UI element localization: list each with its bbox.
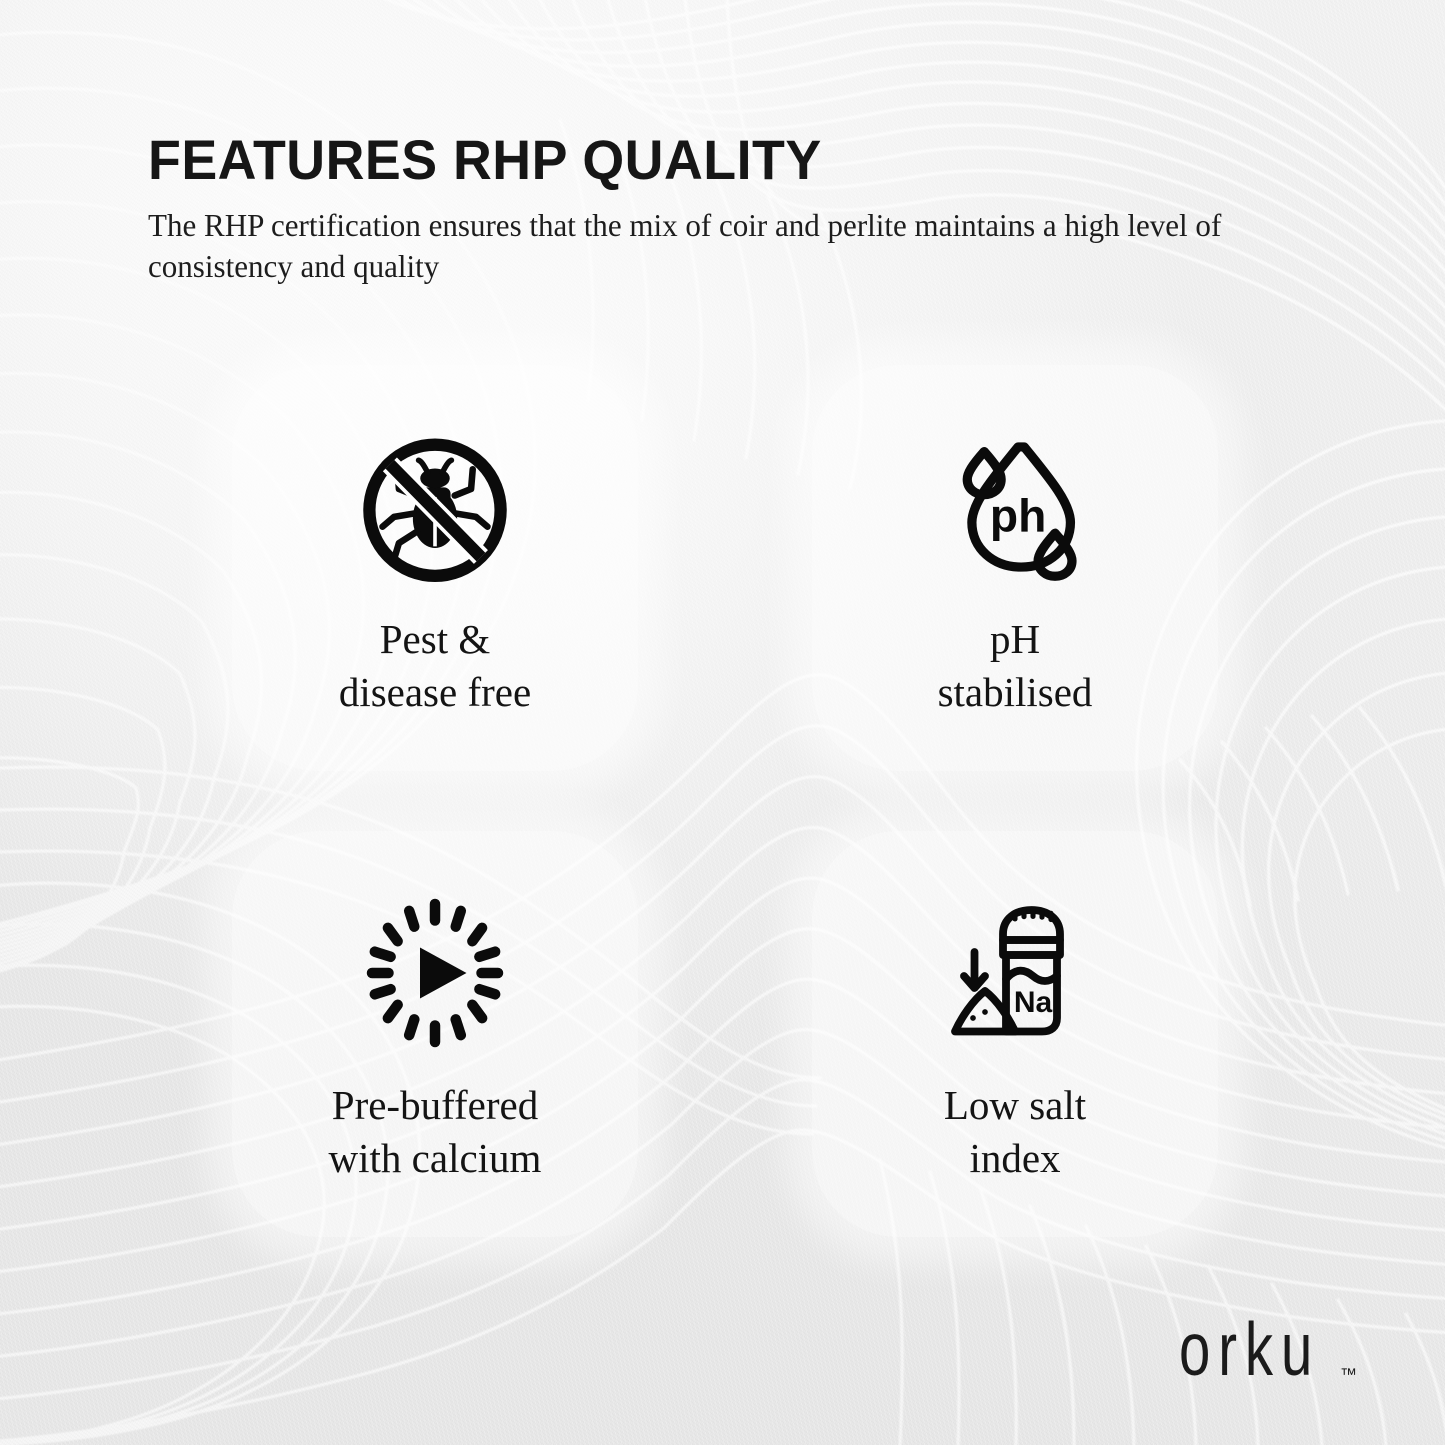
no-pest-icon (353, 427, 517, 587)
ph-droplet-icon-svg: ph (938, 430, 1092, 584)
feature-tile-pre-buffered: Pre-buffered with calcium (232, 831, 638, 1237)
header-block: FEATURES RHP QUALITY The RHP certificati… (148, 132, 1328, 288)
feature-label: Pest & disease free (339, 613, 531, 720)
page-subtitle: The RHP certification ensures that the m… (148, 206, 1281, 288)
feature-infographic-page: FEATURES RHP QUALITY The RHP certificati… (0, 0, 1445, 1445)
feature-tile-ph-stabilised: ph pH stabilised (812, 365, 1218, 771)
pre-buffered-play-icon (360, 893, 510, 1053)
ph-droplet-icon: ph (938, 427, 1092, 587)
page-title: FEATURES RHP QUALITY (148, 132, 1281, 188)
na-icon-text: Na (1014, 986, 1053, 1019)
brand-logo-wordmark: orku (1179, 1311, 1320, 1387)
feature-tile-pest-disease-free: Pest & disease free (232, 365, 638, 771)
trademark-symbol: ™ (1340, 1366, 1357, 1383)
feature-label: Pre-buffered with calcium (329, 1079, 542, 1186)
pre-buffered-play-icon-svg (360, 898, 510, 1048)
low-salt-shaker-icon: Na (940, 893, 1090, 1053)
feature-label: pH stabilised (938, 613, 1093, 720)
low-salt-shaker-icon-svg: Na (940, 898, 1090, 1048)
feature-grid: Pest & disease free ph (232, 365, 1218, 1237)
ph-icon-text: ph (990, 490, 1046, 542)
feature-tile-low-salt-index: Na Low salt index (812, 831, 1218, 1237)
brand-logo: orku ™ (1179, 1323, 1358, 1387)
feature-label: Low salt index (944, 1079, 1086, 1186)
no-pest-icon-svg (353, 425, 517, 589)
